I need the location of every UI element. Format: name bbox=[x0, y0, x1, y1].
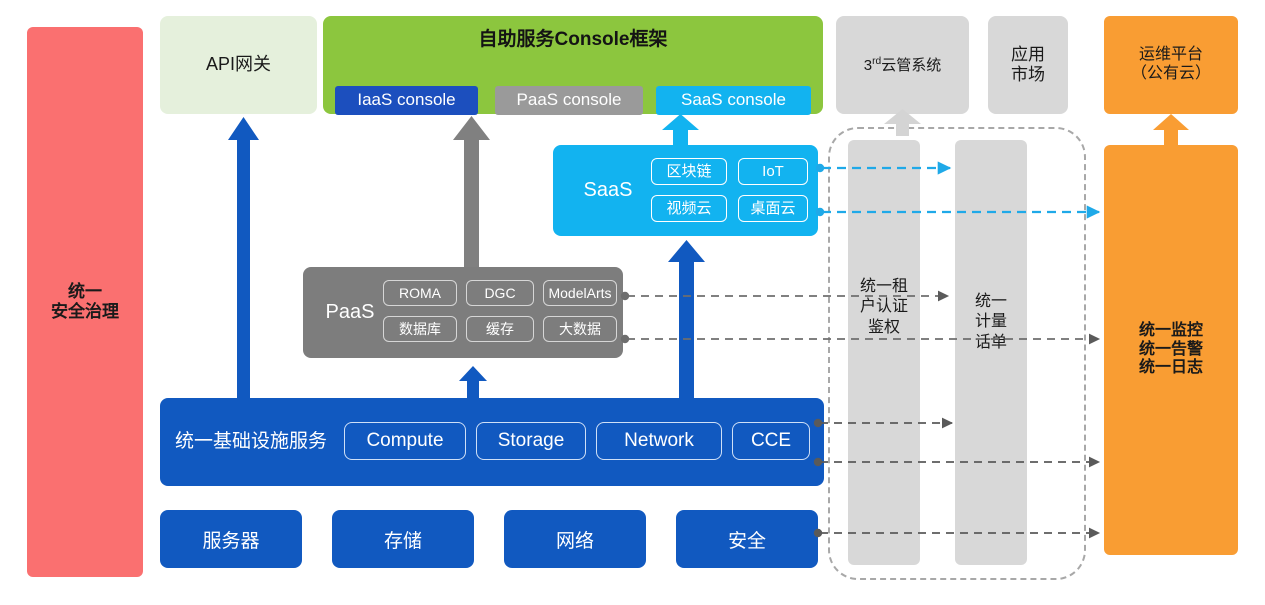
infra-chip-network[interactable]: Network bbox=[596, 422, 722, 460]
metering-line1: 统一 bbox=[975, 293, 1007, 310]
paas-layer-box[interactable]: PaaS ROMA DGC ModelArts 数据库 缓存 大数据 bbox=[303, 267, 623, 358]
third-party-superscript: rd bbox=[872, 56, 881, 67]
paas-chip-dgc[interactable]: DGC bbox=[466, 280, 534, 306]
arrow-infra-to-api-gateway bbox=[228, 117, 259, 398]
saas-chip-blockchain[interactable]: 区块链 bbox=[651, 158, 727, 185]
console-framework-title: 自助服务Console框架 bbox=[323, 16, 823, 64]
auth-line3: 鉴权 bbox=[868, 319, 900, 336]
arrow-paas-to-console bbox=[453, 116, 490, 267]
saas-chip-video-cloud[interactable]: 视频云 bbox=[651, 195, 727, 222]
unified-infrastructure-label: 统一基础设施服务 bbox=[175, 398, 327, 486]
unified-metering-billing-label: 统一 计量 话单 bbox=[975, 292, 1007, 353]
app-market-line1: 应用 bbox=[1011, 45, 1045, 64]
third-party-prefix: 3 bbox=[864, 57, 872, 74]
ops-platform-box[interactable]: 运维平台 （公有云） bbox=[1104, 16, 1238, 114]
unified-tenant-auth-label: 统一租 户认证 鉴权 bbox=[860, 277, 908, 338]
infra-chip-storage[interactable]: Storage bbox=[476, 422, 586, 460]
unified-metering-billing-column[interactable]: 统一 计量 话单 bbox=[955, 140, 1027, 565]
ops-platform-line1: 运维平台 bbox=[1139, 46, 1203, 63]
third-party-suffix: 云管系统 bbox=[881, 57, 941, 74]
ops-capabilities-panel[interactable]: 统一监控 统一告警 统一日志 bbox=[1104, 145, 1238, 555]
application-marketplace-box[interactable]: 应用 市场 bbox=[988, 16, 1068, 114]
api-gateway-label: API网关 bbox=[206, 54, 271, 75]
resource-box-server[interactable]: 服务器 bbox=[160, 510, 302, 568]
app-market-line2: 市场 bbox=[1011, 65, 1045, 84]
auth-line1: 统一租 bbox=[860, 278, 908, 295]
auth-line2: 户认证 bbox=[860, 298, 908, 315]
security-label-line1: 统一 bbox=[68, 282, 102, 301]
arrow-saas-to-saas-console bbox=[662, 114, 699, 145]
arrow-infra-to-paas bbox=[459, 366, 487, 398]
saas-layer-box[interactable]: SaaS 区块链 IoT 视频云 桌面云 bbox=[553, 145, 818, 236]
saas-chip-desktop-cloud[interactable]: 桌面云 bbox=[738, 195, 808, 222]
ops-capabilities-label: 统一监控 统一告警 统一日志 bbox=[1139, 322, 1203, 379]
application-marketplace-label: 应用 市场 bbox=[1011, 45, 1045, 85]
infra-chip-compute[interactable]: Compute bbox=[344, 422, 466, 460]
third-party-cloud-management-box[interactable]: 3rd云管系统 bbox=[836, 16, 969, 114]
infra-chip-cce[interactable]: CCE bbox=[732, 422, 810, 460]
arrow-ops-body-to-ops-platform bbox=[1153, 114, 1189, 145]
security-label-line2: 安全治理 bbox=[51, 302, 119, 321]
ops-line-log: 统一日志 bbox=[1139, 359, 1203, 376]
paas-chip-modelarts[interactable]: ModelArts bbox=[543, 280, 617, 306]
saas-console-chip[interactable]: SaaS console bbox=[656, 86, 811, 115]
ops-platform-line2: （公有云） bbox=[1131, 65, 1211, 82]
third-party-cloud-management-label: 3rd云管系统 bbox=[864, 56, 941, 75]
ops-platform-label: 运维平台 （公有云） bbox=[1131, 46, 1211, 84]
arrow-infra-to-saas bbox=[668, 240, 705, 398]
paas-layer-label: PaaS bbox=[311, 267, 389, 358]
paas-chip-roma[interactable]: ROMA bbox=[383, 280, 457, 306]
ops-line-alarm: 统一告警 bbox=[1139, 341, 1203, 358]
saas-layer-label: SaaS bbox=[563, 145, 653, 236]
paas-chip-database[interactable]: 数据库 bbox=[383, 316, 457, 342]
paas-chip-bigdata[interactable]: 大数据 bbox=[543, 316, 617, 342]
paas-chip-cache[interactable]: 缓存 bbox=[466, 316, 534, 342]
paas-console-chip[interactable]: PaaS console bbox=[495, 86, 643, 115]
resource-box-security[interactable]: 安全 bbox=[676, 510, 818, 568]
self-service-console-framework[interactable]: 自助服务Console框架 IaaS console PaaS console … bbox=[323, 16, 823, 114]
metering-line3: 话单 bbox=[975, 334, 1007, 351]
saas-chip-iot[interactable]: IoT bbox=[738, 158, 808, 185]
resource-box-network[interactable]: 网络 bbox=[504, 510, 646, 568]
api-gateway-box[interactable]: API网关 bbox=[160, 16, 317, 114]
unified-infrastructure-service-bar[interactable]: 统一基础设施服务 Compute Storage Network CCE bbox=[160, 398, 824, 486]
resource-box-storage[interactable]: 存储 bbox=[332, 510, 474, 568]
unified-tenant-auth-column[interactable]: 统一租 户认证 鉴权 bbox=[848, 140, 920, 565]
unified-security-governance-panel[interactable]: 统一 安全治理 bbox=[27, 27, 143, 577]
unified-security-governance-label: 统一 安全治理 bbox=[51, 282, 119, 322]
ops-line-monitoring: 统一监控 bbox=[1139, 322, 1203, 339]
iaas-console-chip[interactable]: IaaS console bbox=[335, 86, 478, 115]
architecture-diagram: 统一 安全治理 API网关 自助服务Console框架 IaaS console… bbox=[0, 0, 1265, 605]
metering-line2: 计量 bbox=[975, 313, 1007, 330]
